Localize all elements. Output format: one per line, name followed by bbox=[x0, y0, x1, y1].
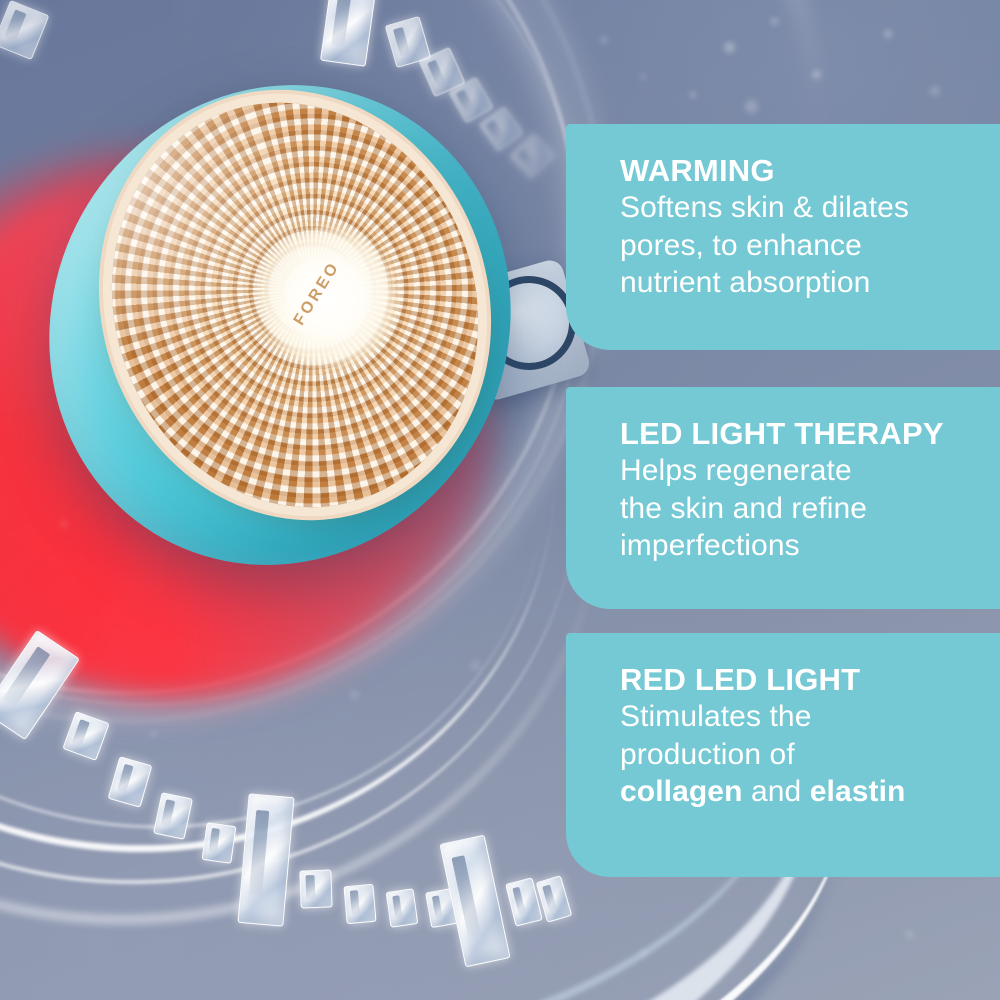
ice-cube bbox=[343, 884, 376, 924]
feature-card-warming[interactable]: WARMING Softens skin & dilatespores, to … bbox=[566, 124, 1000, 350]
emphasis-elastin: elastin bbox=[810, 775, 906, 808]
product-feature-graphic: FOREO WARMING Softens skin & dilatespore… bbox=[0, 0, 1000, 1000]
feature-card-red-led-light[interactable]: RED LED LIGHT Stimulates theproduction o… bbox=[566, 633, 1000, 877]
feature-title-warming: WARMING bbox=[620, 154, 978, 187]
feature-title-red-led-light: RED LED LIGHT bbox=[620, 663, 978, 696]
ice-cube bbox=[202, 822, 237, 864]
feature-body-warming: Softens skin & dilatespores, to enhancen… bbox=[620, 189, 978, 302]
foreo-ufo-device: FOREO bbox=[0, 80, 570, 600]
feature-body-led-light-therapy: Helps regeneratethe skin and refineimper… bbox=[620, 452, 978, 565]
emphasis-collagen: collagen bbox=[620, 775, 743, 808]
ice-cube bbox=[299, 869, 332, 908]
feature-title-led-light-therapy: LED LIGHT THERAPY bbox=[620, 417, 978, 450]
feature-body-red-led-light: Stimulates theproduction ofcollagen and … bbox=[620, 698, 978, 811]
feature-card-led-light-therapy[interactable]: LED LIGHT THERAPY Helps regeneratethe sk… bbox=[566, 387, 1000, 609]
ice-cube bbox=[386, 888, 419, 928]
